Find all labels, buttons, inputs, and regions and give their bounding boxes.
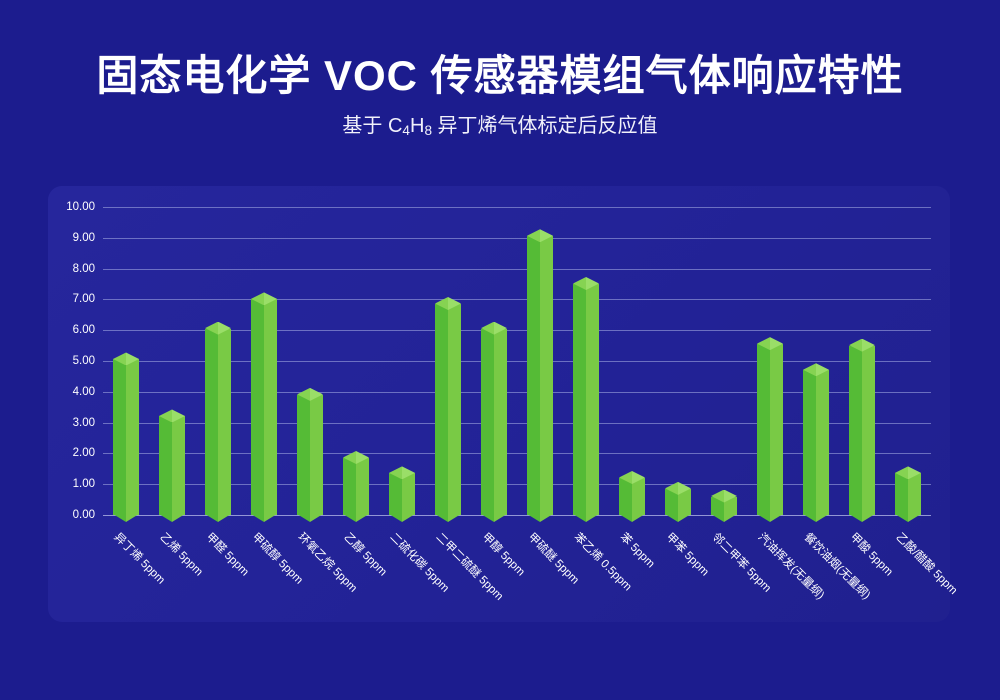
bar-cap-right (494, 322, 507, 335)
y-axis-tick-label: 7.00 (37, 293, 95, 305)
bar-face-left (159, 416, 172, 515)
chart-header: 固态电化学 VOC 传感器模组气体响应特性 基于 C4H8 异丁烯气体标定后反应… (0, 0, 1000, 140)
y-axis-tick-label: 2.00 (37, 447, 95, 459)
bar-top-cap (619, 471, 645, 484)
bar-cap-right (172, 409, 185, 422)
bar-cap-right (126, 352, 139, 365)
bar-column (527, 236, 553, 515)
bar-cap-left (619, 471, 632, 484)
bar-cap-right (862, 339, 875, 352)
bar-column (159, 416, 185, 515)
bar-column (849, 346, 875, 515)
bar-cap-left (343, 451, 356, 464)
bar-top-cap (757, 337, 783, 350)
bar-face-right (494, 329, 507, 515)
bar-face-right (540, 236, 553, 515)
bar-cap-right (632, 471, 645, 484)
bar-top-cap (297, 388, 323, 401)
bar-cap-right (402, 466, 415, 479)
bar-face-left (573, 284, 586, 515)
bar-cap-left (895, 466, 908, 479)
bar-face-right (908, 473, 921, 515)
bar-column (711, 497, 737, 515)
bar-column (481, 329, 507, 515)
bar-cap-right (678, 482, 691, 495)
bar-top-cap (251, 292, 277, 305)
bar-top-cap (803, 363, 829, 376)
page-title: 固态电化学 VOC 传感器模组气体响应特性 (0, 52, 1000, 100)
bar-top-cap (205, 322, 231, 335)
bar-cap-right (356, 451, 369, 464)
x-axis-tick-label: 甲醛 5ppm (203, 529, 253, 579)
bar-face-left (297, 395, 310, 515)
y-axis-tick-label: 9.00 (37, 232, 95, 244)
bar-cap-left (849, 339, 862, 352)
bar-cap-left (251, 292, 264, 305)
x-axis-labels: 异丁烯 5ppm乙烯 5ppm甲醛 5ppm甲硫醇 5ppm环氧乙烷 5ppm乙… (103, 515, 931, 635)
y-axis-tick-label: 8.00 (37, 263, 95, 275)
bar-face-left (527, 236, 540, 515)
x-axis-tick-label: 苯 5ppm (617, 529, 659, 571)
bar-column (251, 299, 277, 515)
bar-face-right (218, 329, 231, 515)
bar-column (113, 359, 139, 515)
bar-column (435, 304, 461, 515)
bar-cap-left (665, 482, 678, 495)
y-axis-tick-label: 0.00 (37, 509, 95, 521)
bar-column (803, 370, 829, 515)
bar-face-right (402, 473, 415, 515)
bar-cap-right (770, 337, 783, 350)
bar-cap-left (573, 277, 586, 290)
bar-top-cap (435, 297, 461, 310)
bar-face-left (803, 370, 816, 515)
bar-cap-right (586, 277, 599, 290)
bar-cap-left (527, 229, 540, 242)
bar-top-cap (527, 229, 553, 242)
bar-face-left (251, 299, 264, 515)
bar-face-left (113, 359, 126, 515)
bar-cap-left (159, 409, 172, 422)
bar-column (389, 473, 415, 515)
bar-top-cap (159, 409, 185, 422)
bar-series (103, 207, 931, 515)
bar-top-cap (343, 451, 369, 464)
bar-cap-right (448, 297, 461, 310)
bar-top-cap (711, 490, 737, 503)
bar-top-cap (849, 339, 875, 352)
bar-cap-left (435, 297, 448, 310)
y-axis-tick-label: 3.00 (37, 417, 95, 429)
x-axis-tick-label: 甲苯 5ppm (663, 529, 713, 579)
bar-cap-left (113, 352, 126, 365)
bar-column (205, 329, 231, 515)
bar-face-right (448, 304, 461, 515)
bar-cap-left (205, 322, 218, 335)
bar-cap-left (389, 466, 402, 479)
bar-face-left (343, 458, 356, 515)
bar-face-right (586, 284, 599, 515)
subtitle-subscript-4: 4 (402, 123, 410, 138)
bar-top-cap (389, 466, 415, 479)
y-axis-tick-label: 4.00 (37, 386, 95, 398)
bar-cap-right (724, 490, 737, 503)
bar-top-cap (113, 352, 139, 365)
bar-cap-left (711, 490, 724, 503)
bar-face-right (172, 416, 185, 515)
page-subtitle: 基于 C4H8 异丁烯气体标定后反应值 (0, 114, 1000, 139)
bar-face-right (862, 346, 875, 515)
bar-top-cap (895, 466, 921, 479)
bar-face-right (264, 299, 277, 515)
subtitle-post: 异丁烯气体标定后反应值 (432, 115, 658, 137)
bar-column (757, 344, 783, 515)
bar-column (895, 473, 921, 515)
y-axis-tick-label: 5.00 (37, 355, 95, 367)
bar-face-right (816, 370, 829, 515)
bar-column (297, 395, 323, 515)
x-axis-tick-label: 乙酸/醋酸 5ppm (893, 529, 962, 598)
bar-cap-right (540, 229, 553, 242)
subtitle-pre: 基于 C (342, 115, 402, 137)
bar-cap-right (264, 292, 277, 305)
y-axis: 0.001.002.003.004.005.006.007.008.009.00… (35, 207, 95, 515)
bar-face-left (389, 473, 402, 515)
subtitle-subscript-8: 8 (424, 123, 432, 138)
bar-cap-left (481, 322, 494, 335)
bar-face-left (849, 346, 862, 515)
subtitle-mid: H (410, 115, 424, 137)
bar-face-left (205, 329, 218, 515)
bar-face-right (770, 344, 783, 515)
bar-face-left (895, 473, 908, 515)
bar-column (343, 458, 369, 515)
bar-face-left (757, 344, 770, 515)
bar-cap-left (757, 337, 770, 350)
bar-face-right (356, 458, 369, 515)
y-axis-tick-label: 10.00 (37, 201, 95, 213)
bar-cap-right (218, 322, 231, 335)
y-axis-tick-label: 1.00 (37, 478, 95, 490)
bar-top-cap (665, 482, 691, 495)
bar-column (573, 284, 599, 515)
bar-cap-right (908, 466, 921, 479)
bar-face-right (126, 359, 139, 515)
bar-cap-right (816, 363, 829, 376)
bar-cap-right (310, 388, 323, 401)
bar-top-cap (573, 277, 599, 290)
bar-top-cap (481, 322, 507, 335)
bar-cap-left (297, 388, 310, 401)
bar-cap-left (803, 363, 816, 376)
bar-face-left (435, 304, 448, 515)
bar-column (665, 489, 691, 515)
bar-face-left (481, 329, 494, 515)
bar-column (619, 478, 645, 515)
y-axis-tick-label: 6.00 (37, 324, 95, 336)
bar-face-right (310, 395, 323, 515)
